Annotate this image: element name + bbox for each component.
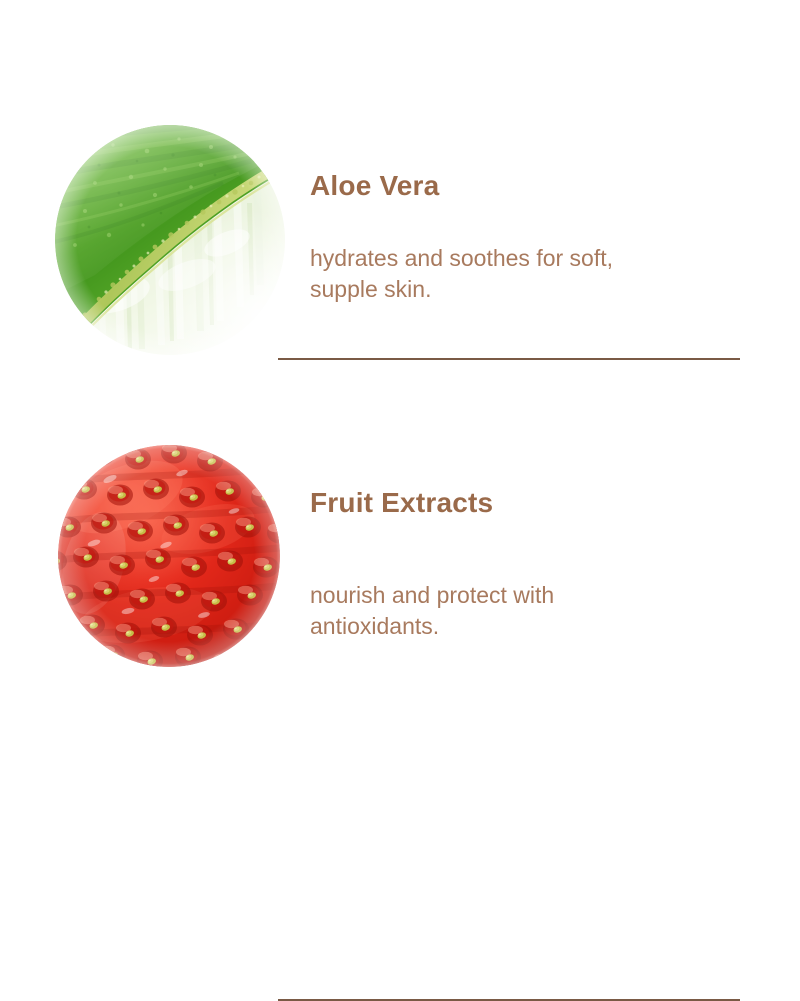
fruit-extracts-description-block: nourish and protect with antioxidants. <box>310 580 750 642</box>
fruit-extracts-text-block: Fruit Extracts <box>310 487 750 519</box>
description-line: supple skin. <box>310 274 730 305</box>
feature-heading-aloe-vera: Aloe Vera <box>310 170 750 202</box>
description-line: nourish and protect with <box>310 580 730 611</box>
feature-description-aloe-vera: hydrates and soothes for soft, supple sk… <box>310 243 730 305</box>
aloe-vera-text-block: Aloe Vera <box>310 170 750 202</box>
feature-item-aloe-vera: Aloe Vera hydrates and soothes for soft,… <box>0 125 800 360</box>
description-line: antioxidants. <box>310 611 730 642</box>
feature-description-fruit-extracts: nourish and protect with antioxidants. <box>310 580 730 642</box>
description-line: hydrates and soothes for soft, <box>310 243 730 274</box>
feature-heading-fruit-extracts: Fruit Extracts <box>310 487 750 519</box>
strawberry-photo <box>58 445 280 667</box>
ingredient-feature-panel: Aloe Vera hydrates and soothes for soft,… <box>0 0 800 800</box>
aloe-vera-photo <box>55 125 285 355</box>
feature-item-fruit-extracts: Fruit Extracts nourish and protect with … <box>0 445 800 670</box>
aloe-vera-description-block: hydrates and soothes for soft, supple sk… <box>310 243 750 305</box>
feature-divider-aloe-vera <box>278 358 740 360</box>
